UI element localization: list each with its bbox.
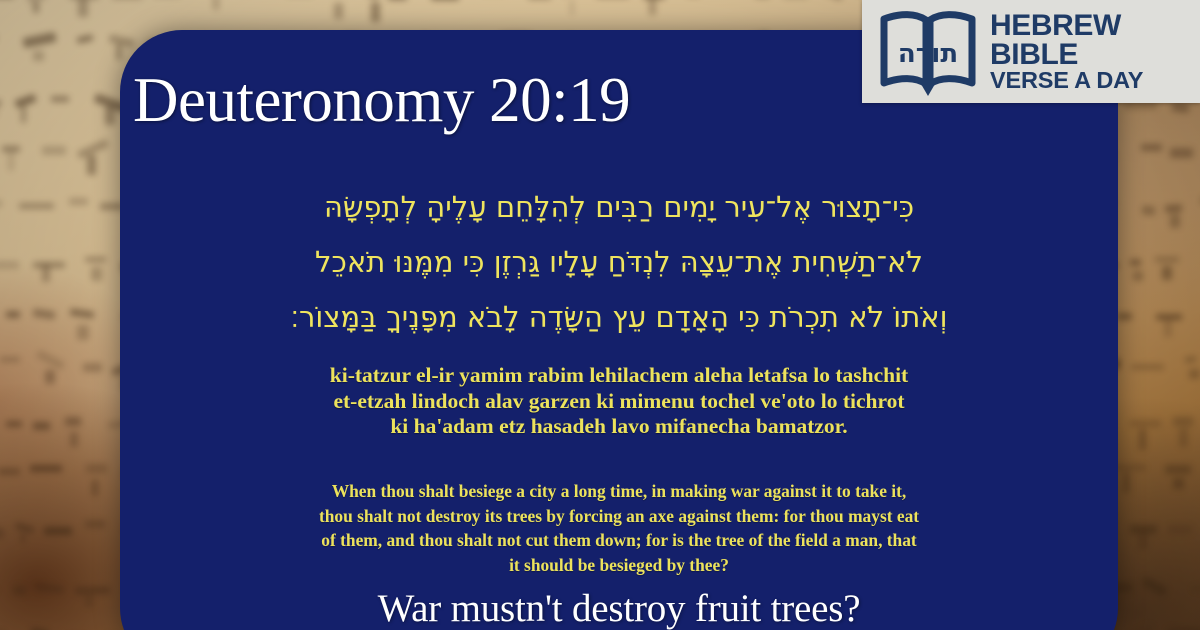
verse-card: Deuteronomy 20:19 כִּי־תָצוּר אֶל־עִיר י… xyxy=(120,30,1118,630)
translation-line: When thou shalt besiege a city a long ti… xyxy=(120,479,1118,504)
verse-card-content: Deuteronomy 20:19 כִּי־תָצוּר אֶל־עִיר י… xyxy=(120,30,1118,630)
brand-name-line-3: VERSE A DAY xyxy=(990,69,1143,92)
transliteration-line: ki ha'adam etz hasadeh lavo mifanecha ba… xyxy=(120,414,1118,440)
hebrew-verse-line: כִּי־תָצוּר אֶל־עִיר יָמִים רַבִּים לְהִ… xyxy=(120,180,1118,235)
open-book-icon: תורה xyxy=(876,6,980,98)
verse-image-canvas: Deuteronomy 20:19 כִּי־תָצוּר אֶל־עִיר י… xyxy=(0,0,1200,630)
translation-line: of them, and thou shalt not cut them dow… xyxy=(120,528,1118,553)
brand-name-line-1: HEBREW xyxy=(990,11,1143,40)
brand-name-line-2: BIBLE xyxy=(990,40,1143,69)
hebrew-verse-block: כִּי־תָצוּר אֶל־עִיר יָמִים רַבִּים לְהִ… xyxy=(120,180,1118,345)
brand-logo-text: HEBREW BIBLE VERSE A DAY xyxy=(990,11,1143,93)
translation-line: thou shalt not destroy its trees by forc… xyxy=(120,504,1118,529)
hebrew-verse-line: לֹא־תַשְׁחִית אֶת־עֵצָהּ לִנְדֹּחַ עָלָי… xyxy=(120,235,1118,290)
hebrew-verse-line: וְאֹתוֹ לֹא תִכְרֹת כִּי הָאָדָם עֵץ הַש… xyxy=(120,290,1118,345)
transliteration-block: ki-tatzur el-ir yamim rabim lehilachem a… xyxy=(120,363,1118,440)
brand-logo[interactable]: תורה HEBREW BIBLE VERSE A DAY xyxy=(862,0,1200,103)
transliteration-line: ki-tatzur el-ir yamim rabim lehilachem a… xyxy=(120,363,1118,389)
verse-headline: War mustn't destroy fruit trees? xyxy=(120,586,1118,630)
english-translation-block: When thou shalt besiege a city a long ti… xyxy=(120,479,1118,577)
translation-line: it should be besieged by thee? xyxy=(120,553,1118,578)
transliteration-line: et-etzah lindoch alav garzen ki mimenu t… xyxy=(120,389,1118,415)
